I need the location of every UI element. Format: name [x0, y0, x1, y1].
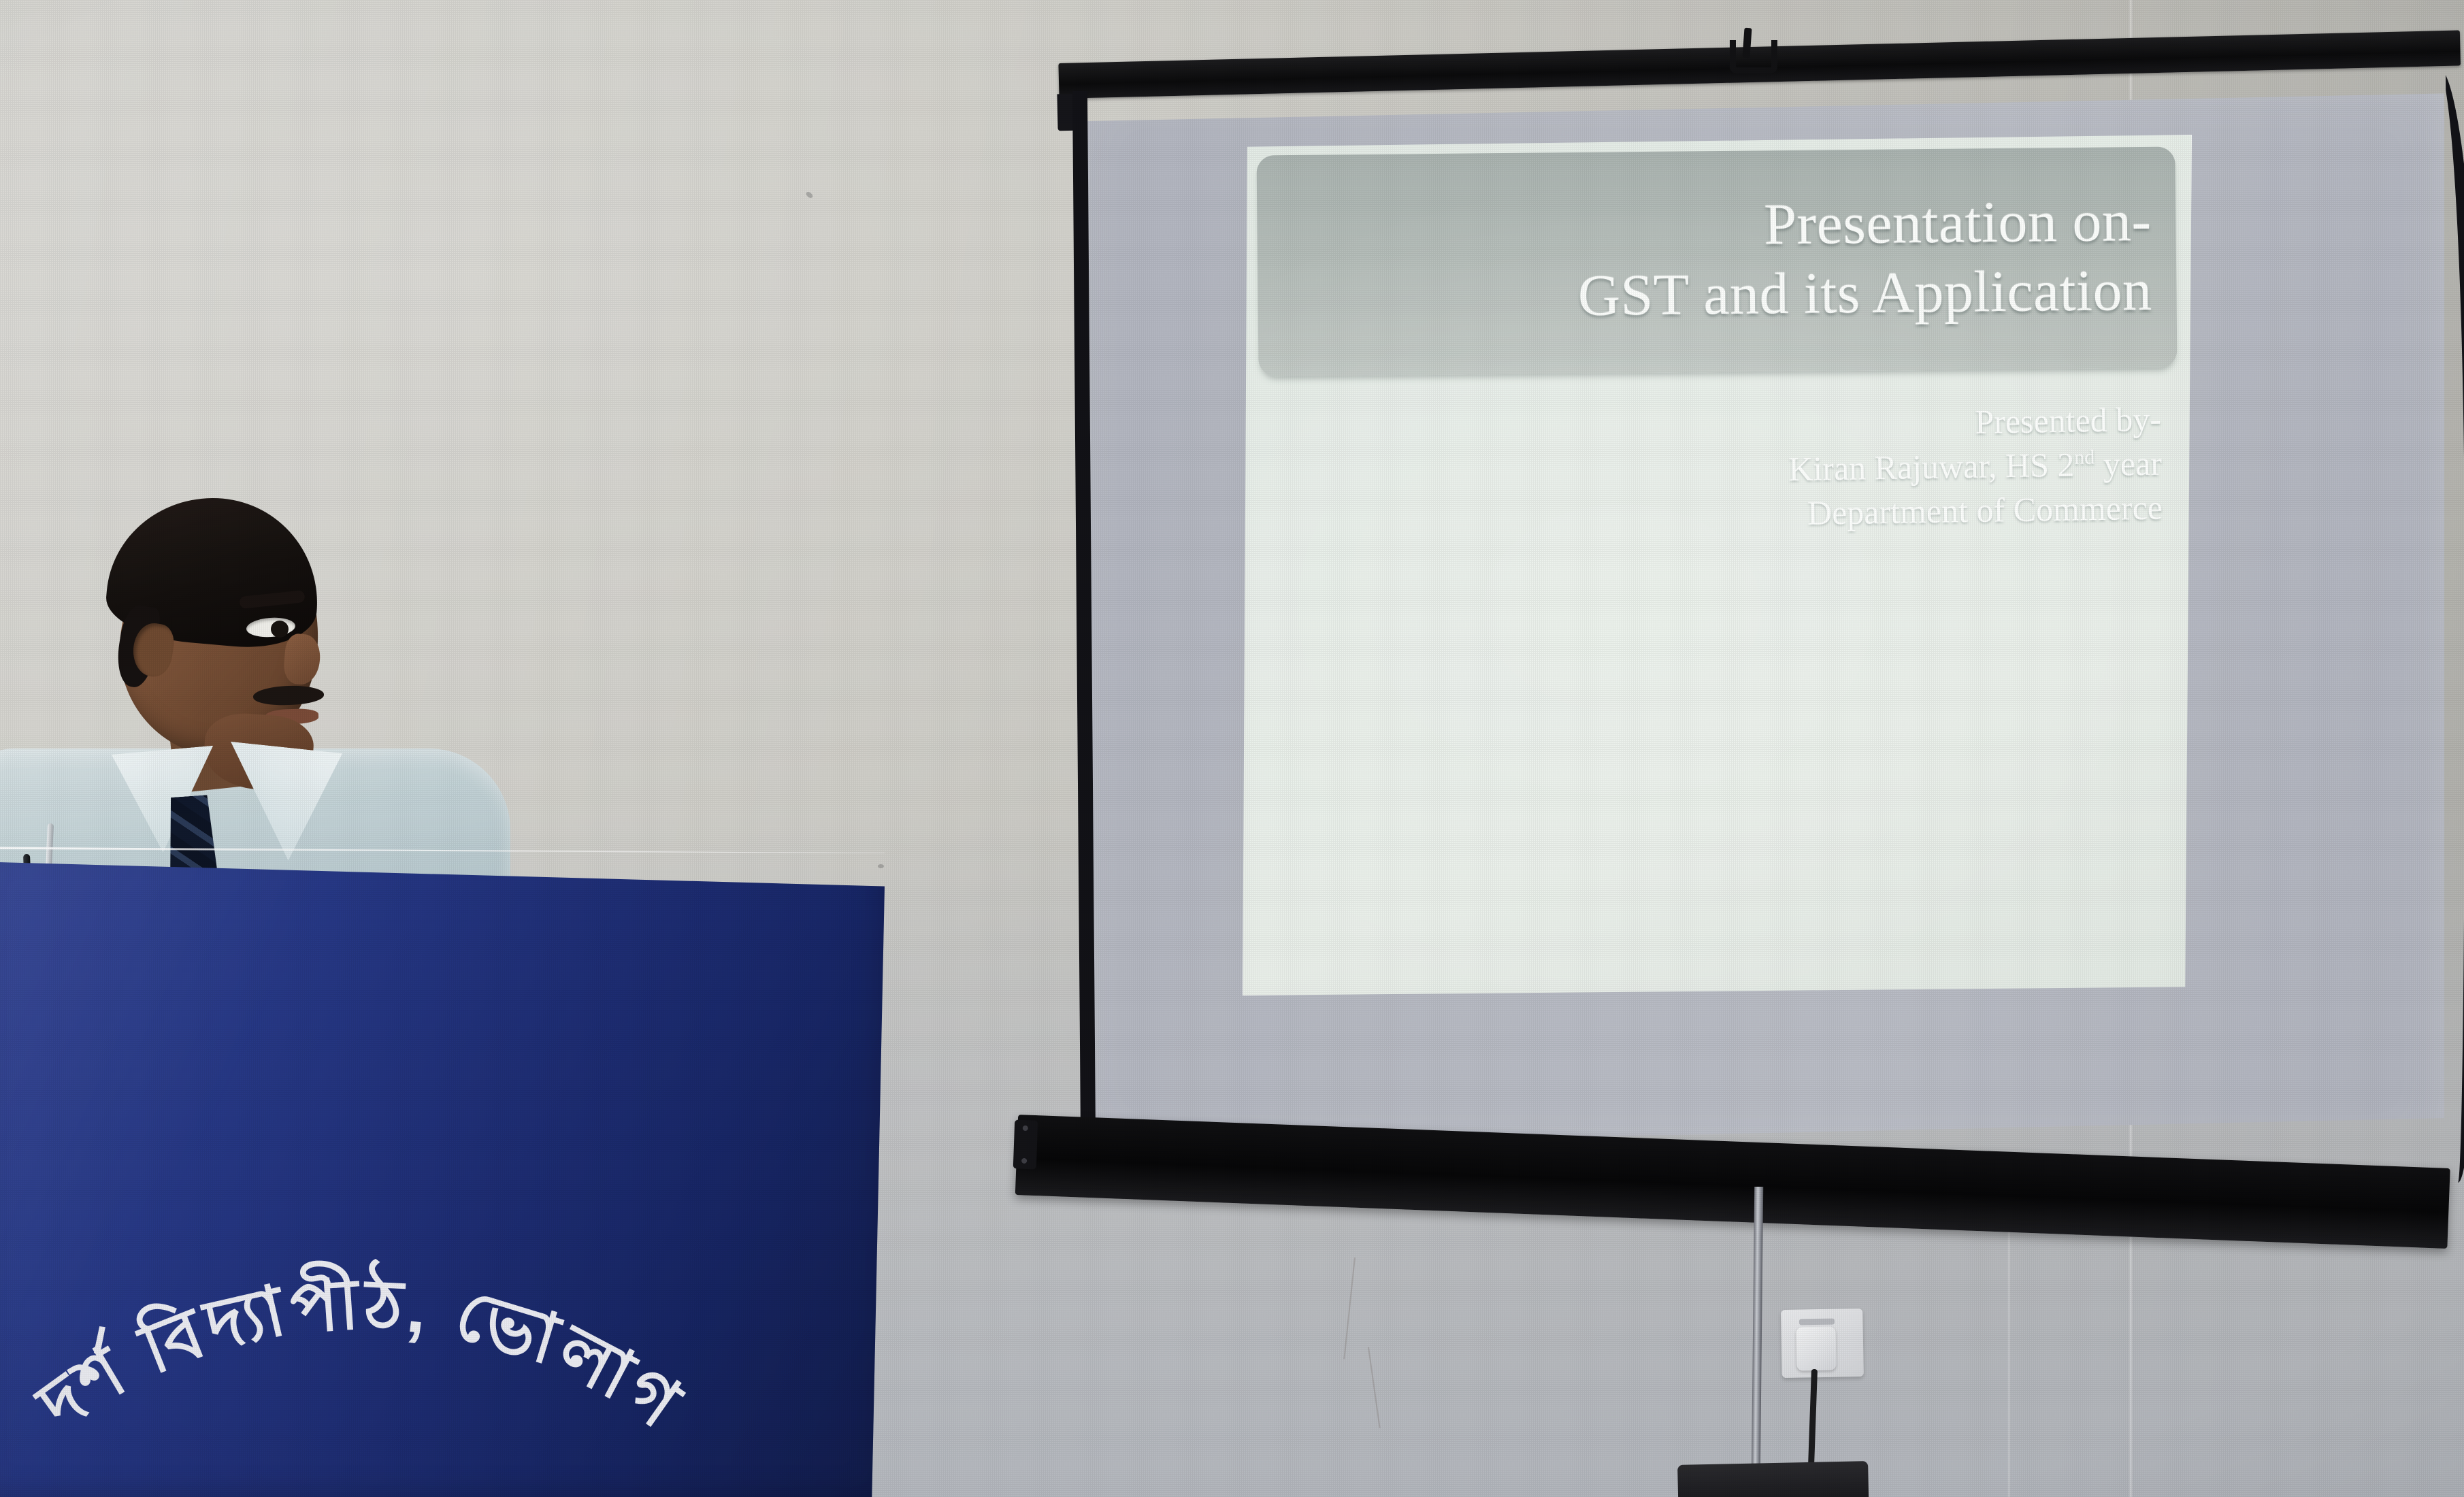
- power-plug[interactable]: [1796, 1326, 1836, 1370]
- podium-arc-text-svg: দর্শ বিদ্যাপীঠ, ভোলাগ: [0, 1009, 885, 1497]
- screen-bottom-weight-bar: [1015, 1115, 2450, 1249]
- projected-slide: Presentation on- GST and its Application…: [1243, 135, 2192, 996]
- wall-blemish: [878, 864, 884, 868]
- presenter-name-after-sup: year: [2095, 444, 2162, 484]
- presenter-student: [0, 490, 517, 898]
- screen-tripod-base: [1677, 1461, 1869, 1497]
- podium-banner-text-area: দর্শ বিদ্যাপীঠ, ভোলাগ: [0, 846, 885, 1497]
- wall-hook-icon: [1726, 28, 1769, 69]
- ordinal-suffix: nd: [2074, 446, 2095, 468]
- socket-slot: [1799, 1319, 1835, 1326]
- projection-screen[interactable]: Presentation on- GST and its Application…: [1004, 26, 2464, 1251]
- person-pupil: [271, 621, 289, 638]
- presenter-line-3: Department of Commerce: [1807, 486, 2163, 536]
- podium-banner-text: দর্শ বিদ্যাপীঠ, ভোলাগ: [23, 1258, 697, 1447]
- presenter-name-before-sup: Kiran Rajuwar, HS 2: [1788, 446, 2075, 489]
- presenter-line-1: Presented by-: [1975, 397, 2162, 444]
- slide-title-line-2: GST and its Application: [1577, 255, 2152, 330]
- slide-title-line-1: Presentation on-: [1764, 186, 2152, 259]
- screen-bottom-end-cap: [1013, 1119, 1038, 1169]
- presenter-line-2: Kiran Rajuwar, HS 2nd year: [1788, 442, 2163, 492]
- photograph-scene: Presentation on- GST and its Application…: [0, 0, 2464, 1497]
- slide-presenter-block: Presented by- Kiran Rajuwar, HS 2nd year…: [1345, 397, 2163, 543]
- slide-title: Presentation on- GST and its Application: [1256, 147, 2177, 377]
